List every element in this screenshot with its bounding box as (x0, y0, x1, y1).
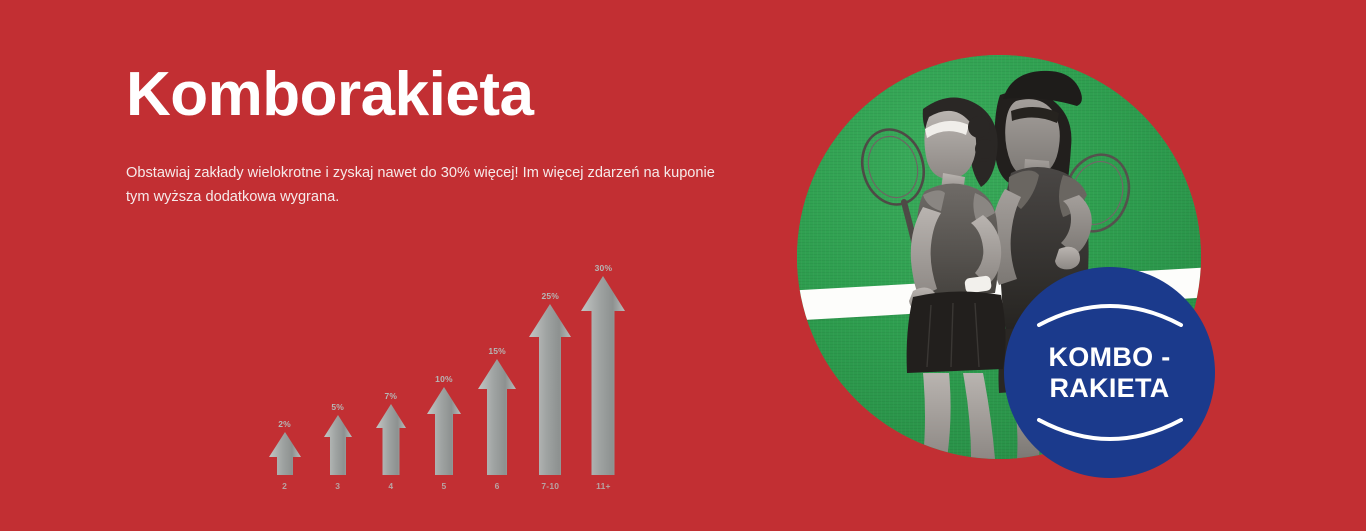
bar-category-label: 2 (282, 476, 287, 496)
badge-arc-top-icon (1035, 293, 1185, 327)
bar-value-label: 15% (488, 347, 506, 356)
bar-category-label: 5 (442, 476, 447, 496)
chart-bar-6: 15% 6 (471, 252, 524, 496)
up-arrow-icon (268, 431, 302, 476)
chart-bar-7-10: 25% 7-10 (524, 252, 577, 496)
chart-bar-11+: 30% 11+ (577, 252, 630, 496)
bar-category-label: 6 (495, 476, 500, 496)
bar-value-label: 10% (435, 375, 453, 384)
up-arrow-icon (528, 303, 572, 476)
up-arrow-icon (375, 403, 407, 476)
page-title: Komborakieta (126, 62, 533, 127)
bar-category-label: 4 (388, 476, 393, 496)
bar-value-label: 2% (278, 420, 291, 429)
badge-line-1: KOMBO - (1048, 342, 1170, 373)
bar-category-label: 7-10 (541, 476, 559, 496)
bar-value-label: 30% (595, 264, 613, 273)
promo-description: Obstawiaj zakłady wielokrotne i zyskaj n… (126, 162, 742, 209)
badge-arc-bottom-icon (1035, 418, 1185, 452)
bar-category-label: 3 (335, 476, 340, 496)
up-arrow-icon (323, 414, 353, 476)
chart-bar-3: 5% 3 (311, 252, 364, 496)
chart-bar-4: 7% 4 (364, 252, 417, 496)
chart-bar-2: 2% 2 (258, 252, 311, 496)
bar-value-label: 7% (385, 392, 398, 401)
bar-value-label: 5% (331, 403, 344, 412)
up-arrow-icon (580, 275, 626, 476)
bonus-arrow-chart: 2% 25% 37% 410% (258, 252, 630, 496)
kombo-rakieta-badge: KOMBO - RAKIETA (1004, 267, 1215, 478)
up-arrow-icon (426, 386, 462, 476)
promo-banner: Komborakieta Obstawiaj zakłady wielokrot… (0, 0, 1366, 531)
up-arrow-icon (477, 358, 517, 476)
bar-value-label: 25% (541, 292, 559, 301)
badge-line-2: RAKIETA (1049, 373, 1169, 404)
chart-bar-5: 10% 5 (417, 252, 470, 496)
female-player (854, 97, 1006, 459)
bar-category-label: 11+ (596, 476, 611, 496)
